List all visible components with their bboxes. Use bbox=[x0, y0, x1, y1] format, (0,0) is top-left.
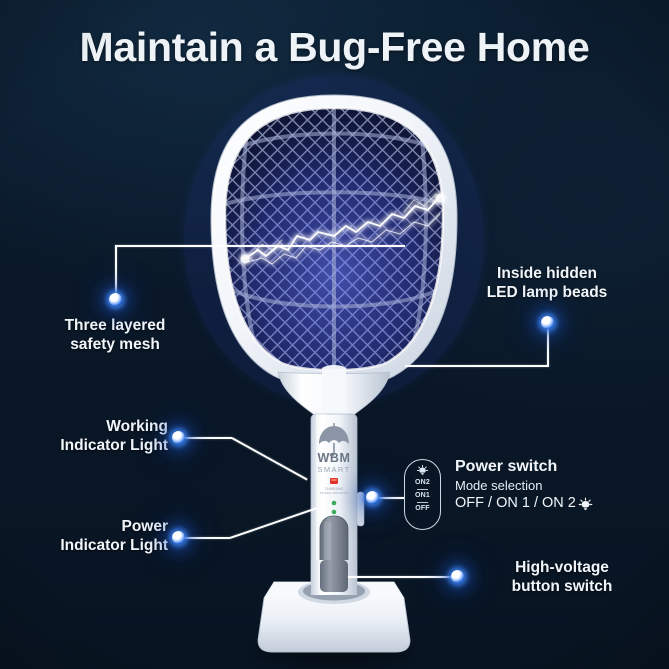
bug-zapper-racket-illustration: WBM SMART CHARGING POWER INDICATOR bbox=[0, 0, 669, 669]
svg-text:POWER INDICATOR: POWER INDICATOR bbox=[320, 491, 349, 495]
leader-line-mesh-horizontal bbox=[115, 245, 405, 247]
callout-dot-working-indicator[interactable] bbox=[172, 431, 185, 444]
leader-line-working-horizontal bbox=[184, 437, 232, 439]
mode-separator-2 bbox=[417, 502, 428, 503]
mode-label-off: OFF bbox=[415, 504, 430, 513]
sun-lamp-icon bbox=[416, 464, 429, 477]
callout-dot-mesh[interactable] bbox=[109, 293, 122, 306]
power-switch-mode-badge[interactable]: ON2 ON1 OFF bbox=[404, 459, 441, 530]
leader-line-high-voltage bbox=[348, 576, 458, 578]
svg-text:WBM: WBM bbox=[317, 451, 350, 465]
callout-dot-power-indicator[interactable] bbox=[172, 531, 185, 544]
leader-line-mesh-vertical bbox=[115, 245, 117, 299]
mode-label-on2: ON2 bbox=[415, 478, 430, 487]
leader-line-power-horizontal bbox=[184, 537, 230, 539]
svg-text:SMART: SMART bbox=[317, 465, 350, 474]
leader-line-led-horizontal bbox=[405, 365, 549, 367]
mode-label-on1: ON1 bbox=[415, 491, 430, 500]
infographic-canvas: Maintain a Bug-Free Home bbox=[0, 0, 669, 669]
callout-dot-power-switch[interactable] bbox=[366, 491, 379, 504]
mode-separator-1 bbox=[417, 489, 428, 490]
callout-dot-led[interactable] bbox=[541, 316, 554, 329]
callout-dot-high-voltage[interactable] bbox=[451, 570, 464, 583]
